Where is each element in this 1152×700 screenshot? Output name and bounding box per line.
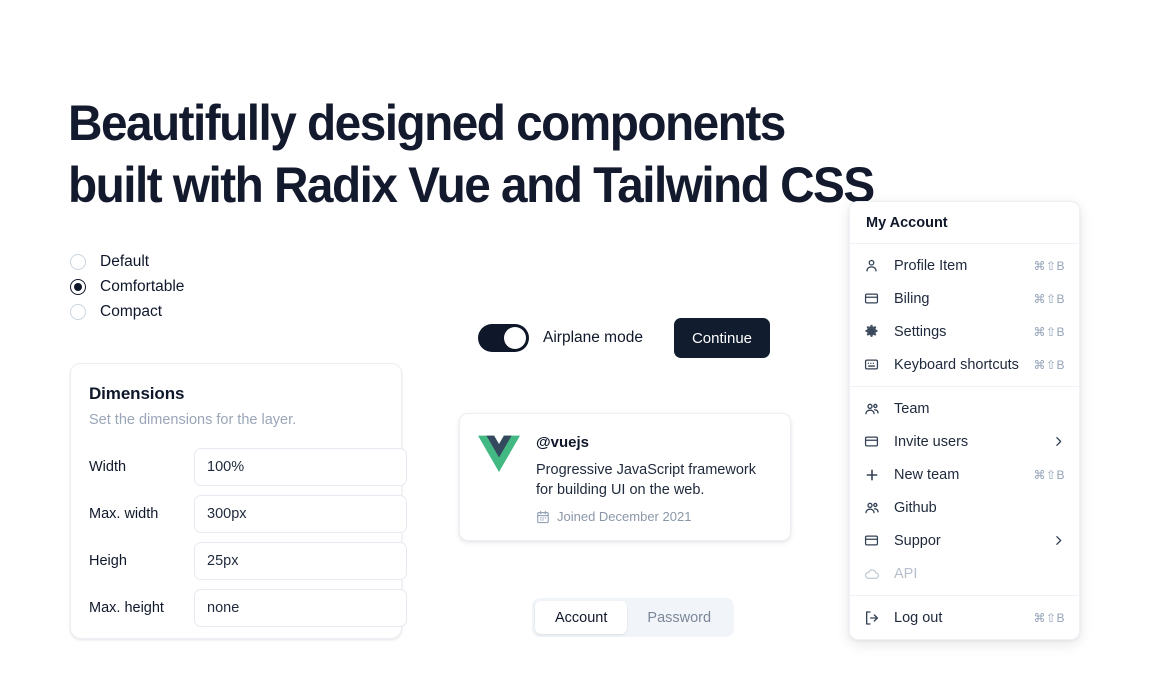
radio-indicator-comfortable[interactable]: [70, 279, 86, 295]
dimensions-row-max-width: Max. width: [89, 495, 383, 533]
chevron-right-icon: [1052, 534, 1065, 547]
vue-description: Progressive JavaScript framework for bui…: [536, 460, 772, 500]
airplane-mode-label: Airplane mode: [543, 329, 643, 347]
menu-item-label: API: [894, 566, 1065, 582]
menu-header: My Account: [850, 202, 1079, 243]
menu-group-session: Log out ⌘⇧B: [850, 596, 1079, 639]
menu-group-account: Profile Item ⌘⇧B Biling ⌘⇧B: [850, 244, 1079, 386]
label-max-width: Max. width: [89, 506, 194, 522]
menu-item-new-team[interactable]: New team ⌘⇧B: [850, 458, 1079, 491]
dimensions-row-width: Width: [89, 448, 383, 486]
menu-item-shortcut: ⌘⇧B: [1033, 325, 1065, 339]
credit-card-icon: [864, 533, 884, 549]
menu-item-invite-users[interactable]: Invite users: [850, 425, 1079, 458]
menu-item-label: New team: [894, 467, 1033, 483]
menu-item-shortcut: ⌘⇧B: [1033, 611, 1065, 625]
page-root: Beautifully designed components built wi…: [0, 0, 1152, 700]
cloud-icon: [864, 566, 884, 582]
radio-option-compact[interactable]: Compact: [70, 299, 184, 324]
dimensions-card: Dimensions Set the dimensions for the la…: [70, 363, 402, 639]
menu-item-label: Github: [894, 500, 1065, 516]
label-max-height: Max. height: [89, 600, 194, 616]
radio-group: Default Comfortable Compact: [70, 249, 184, 324]
page-title-line-1: Beautifully designed components: [68, 92, 985, 154]
menu-item-shortcut: ⌘⇧B: [1033, 292, 1065, 306]
switch-knob: [504, 327, 526, 349]
menu-item-label: Profile Item: [894, 258, 1033, 274]
menu-item-logout[interactable]: Log out ⌘⇧B: [850, 601, 1079, 634]
dimensions-card-subtitle: Set the dimensions for the layer.: [89, 412, 383, 428]
tab-password[interactable]: Password: [627, 601, 731, 634]
menu-group-team: Team Invite users New team: [850, 387, 1079, 595]
menu-item-support[interactable]: Suppor: [850, 524, 1079, 557]
tabs: Account Password: [532, 598, 734, 637]
menu-item-shortcut: ⌘⇧B: [1033, 259, 1065, 273]
menu-item-keyboard-shortcuts[interactable]: Keyboard shortcuts ⌘⇧B: [850, 348, 1079, 381]
radio-option-comfortable[interactable]: Comfortable: [70, 274, 184, 299]
users-icon: [864, 401, 884, 417]
airplane-mode-switch[interactable]: [478, 324, 529, 352]
gear-icon: [864, 324, 884, 340]
tab-account[interactable]: Account: [535, 601, 627, 634]
credit-card-icon: [864, 291, 884, 307]
menu-item-team[interactable]: Team: [850, 392, 1079, 425]
chevron-right-icon: [1052, 435, 1065, 448]
page-title-line-2: built with Radix Vue and Tailwind CSS: [68, 154, 985, 216]
airplane-mode-switch-group: Airplane mode: [478, 324, 643, 352]
menu-item-label: Invite users: [894, 434, 1052, 450]
menu-item-label: Settings: [894, 324, 1033, 340]
radio-indicator-default[interactable]: [70, 254, 86, 270]
plus-icon: [864, 467, 884, 483]
account-dropdown-menu: My Account Profile Item ⌘⇧B Bili: [849, 201, 1080, 640]
radio-indicator-compact[interactable]: [70, 304, 86, 320]
menu-item-settings[interactable]: Settings ⌘⇧B: [850, 315, 1079, 348]
menu-item-label: Biling: [894, 291, 1033, 307]
menu-item-github[interactable]: Github: [850, 491, 1079, 524]
label-height: Heigh: [89, 553, 194, 569]
input-height[interactable]: [194, 542, 407, 580]
vue-card-body: @vuejs Progressive JavaScript framework …: [536, 434, 772, 520]
vue-handle: @vuejs: [536, 434, 772, 451]
vue-joined-text: Joined December 2021: [557, 509, 691, 524]
menu-item-billing[interactable]: Biling ⌘⇧B: [850, 282, 1079, 315]
continue-button[interactable]: Continue: [674, 318, 770, 358]
label-width: Width: [89, 459, 194, 475]
menu-item-label: Keyboard shortcuts: [894, 357, 1033, 373]
user-icon: [864, 258, 884, 274]
menu-item-shortcut: ⌘⇧B: [1033, 468, 1065, 482]
menu-item-profile[interactable]: Profile Item ⌘⇧B: [850, 249, 1079, 282]
dimensions-row-height: Heigh: [89, 542, 383, 580]
radio-option-default[interactable]: Default: [70, 249, 184, 274]
credit-card-icon: [864, 434, 884, 450]
dimensions-field-list: Width Max. width Heigh Max. height: [89, 448, 383, 627]
input-max-width[interactable]: [194, 495, 407, 533]
input-width[interactable]: [194, 448, 407, 486]
radio-label-default: Default: [100, 253, 149, 271]
logout-icon: [864, 610, 884, 626]
menu-item-label: Suppor: [894, 533, 1052, 549]
vue-joined-row: Joined December 2021: [536, 509, 772, 524]
menu-item-label: Team: [894, 401, 1065, 417]
menu-item-label: Log out: [894, 610, 1033, 626]
calendar-icon: [536, 510, 550, 524]
page-title: Beautifully designed components built wi…: [68, 92, 985, 216]
users-icon: [864, 500, 884, 516]
dimensions-row-max-height: Max. height: [89, 589, 383, 627]
menu-item-api: API: [850, 557, 1079, 590]
radio-label-compact: Compact: [100, 303, 162, 321]
vue-logo-icon: [478, 434, 520, 474]
radio-label-comfortable: Comfortable: [100, 278, 184, 296]
dimensions-card-title: Dimensions: [89, 384, 383, 404]
vue-hover-card: @vuejs Progressive JavaScript framework …: [459, 413, 791, 541]
input-max-height[interactable]: [194, 589, 407, 627]
menu-item-shortcut: ⌘⇧B: [1033, 358, 1065, 372]
keyboard-icon: [864, 357, 884, 373]
